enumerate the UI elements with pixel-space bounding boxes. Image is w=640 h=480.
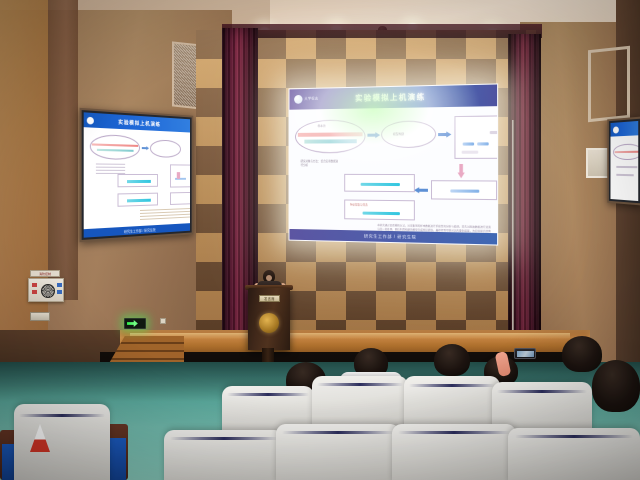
- right-side-monitor: [607, 117, 640, 206]
- seat-armrest-side: [108, 438, 126, 480]
- slide-ellipse-a-label: 样本池: [318, 124, 326, 128]
- exit-sign: [124, 318, 146, 329]
- smartphone[interactable]: [514, 348, 536, 359]
- slide-bar-green: [304, 139, 356, 143]
- slide-box-feature-label: 特征提取与筛选: [350, 204, 368, 208]
- left-wall-pillar: [48, 0, 78, 300]
- university-logo-icon: [613, 126, 619, 133]
- control-indicator-red: [32, 290, 37, 294]
- podium-plaque: 发言席: [259, 295, 280, 302]
- right-monitor-body: [611, 135, 639, 193]
- left-monitor-body: [84, 127, 190, 229]
- slide-box-feature: 特征提取与筛选: [344, 200, 415, 221]
- seat[interactable]: [14, 404, 110, 480]
- monitor-line-cyan: [127, 180, 151, 183]
- slide-body: 样本池 模型构建: [289, 106, 497, 233]
- fire-control-panel[interactable]: [28, 278, 64, 302]
- left-monitor-slide: 实验模拟上机演练 研究生工作部 / 研究生院: [84, 112, 190, 237]
- seat[interactable]: [392, 424, 516, 480]
- control-indicator-blue: [57, 290, 62, 294]
- slide-note-line: [490, 131, 498, 134]
- arrow-right-icon: [142, 146, 149, 150]
- podium-emblem-icon: [259, 313, 279, 333]
- slide-tag-b: [477, 142, 488, 145]
- arrow-down-icon: [177, 172, 180, 179]
- seat[interactable]: [508, 428, 640, 480]
- right-monitor-header: [611, 121, 639, 137]
- slide-feedback-line: [450, 189, 479, 192]
- slide-box-preprocess: [344, 174, 415, 192]
- monitor-paragraph: [140, 208, 190, 222]
- audience-head: [592, 360, 640, 412]
- control-dial-icon[interactable]: [41, 284, 55, 298]
- arrow-left-icon: [414, 187, 428, 193]
- monitor-bar-red: [615, 151, 639, 153]
- exit-running-man-icon: [127, 320, 143, 327]
- stage-floor-highlight: [130, 333, 570, 339]
- air-vent-grille-icon: [588, 46, 630, 122]
- monitor-ellipse-b: [150, 139, 181, 157]
- podium-base: [262, 348, 274, 362]
- stage-valance: [222, 24, 542, 38]
- main-projection-screen: 大学标志 实验模拟上机演练 样本池 模型构建: [289, 83, 499, 245]
- presentation-slide: 大学标志 实验模拟上机演练 样本池 模型构建: [289, 84, 497, 244]
- seat[interactable]: [164, 430, 284, 480]
- monitor-line: [616, 166, 637, 168]
- monitor-ellipse-a: [90, 134, 140, 160]
- slide-box-result: [454, 115, 498, 158]
- audience-head: [562, 336, 602, 372]
- auditorium-photo: 大学标志 实验模拟上机演练 样本池 模型构建: [0, 0, 640, 480]
- slide-title: 实验模拟上机演练: [289, 90, 497, 105]
- left-side-monitor: 实验模拟上机演练 研究生工作部 / 研究生院: [80, 108, 194, 242]
- seat[interactable]: [276, 424, 400, 480]
- smartphone-screen: [517, 351, 534, 357]
- slide-left-note: 研究对象与方法： 结合实验数据进行分析: [301, 160, 341, 168]
- slide-result-line: [462, 151, 479, 154]
- right-monitor-slide: [611, 121, 639, 201]
- slide-tag-a: [463, 142, 474, 145]
- slide-box-feedback: [431, 180, 497, 200]
- slide-preprocess-line: [361, 183, 400, 186]
- slide-feature-line: [363, 212, 400, 216]
- microphone-stand: [512, 120, 514, 332]
- audience-head: [434, 344, 470, 376]
- arrow-right-icon: [367, 132, 380, 138]
- control-panel-label: 消防控制: [30, 270, 60, 277]
- monitor-line: [616, 174, 633, 176]
- arrow-right-icon: [438, 131, 451, 137]
- slide-bar-red: [298, 132, 363, 137]
- monitor-note-left: [96, 163, 125, 174]
- control-indicator-red: [32, 283, 37, 287]
- slide-ellipse-model: [381, 120, 436, 148]
- arrow-down-icon: [458, 164, 465, 178]
- control-indicator-blue: [57, 283, 62, 287]
- wall-socket-panel[interactable]: [30, 312, 50, 321]
- wall-plate: [160, 318, 166, 324]
- slide-ellipse-b-label: 模型构建: [393, 132, 404, 136]
- monitor-box-feedback: [170, 192, 190, 205]
